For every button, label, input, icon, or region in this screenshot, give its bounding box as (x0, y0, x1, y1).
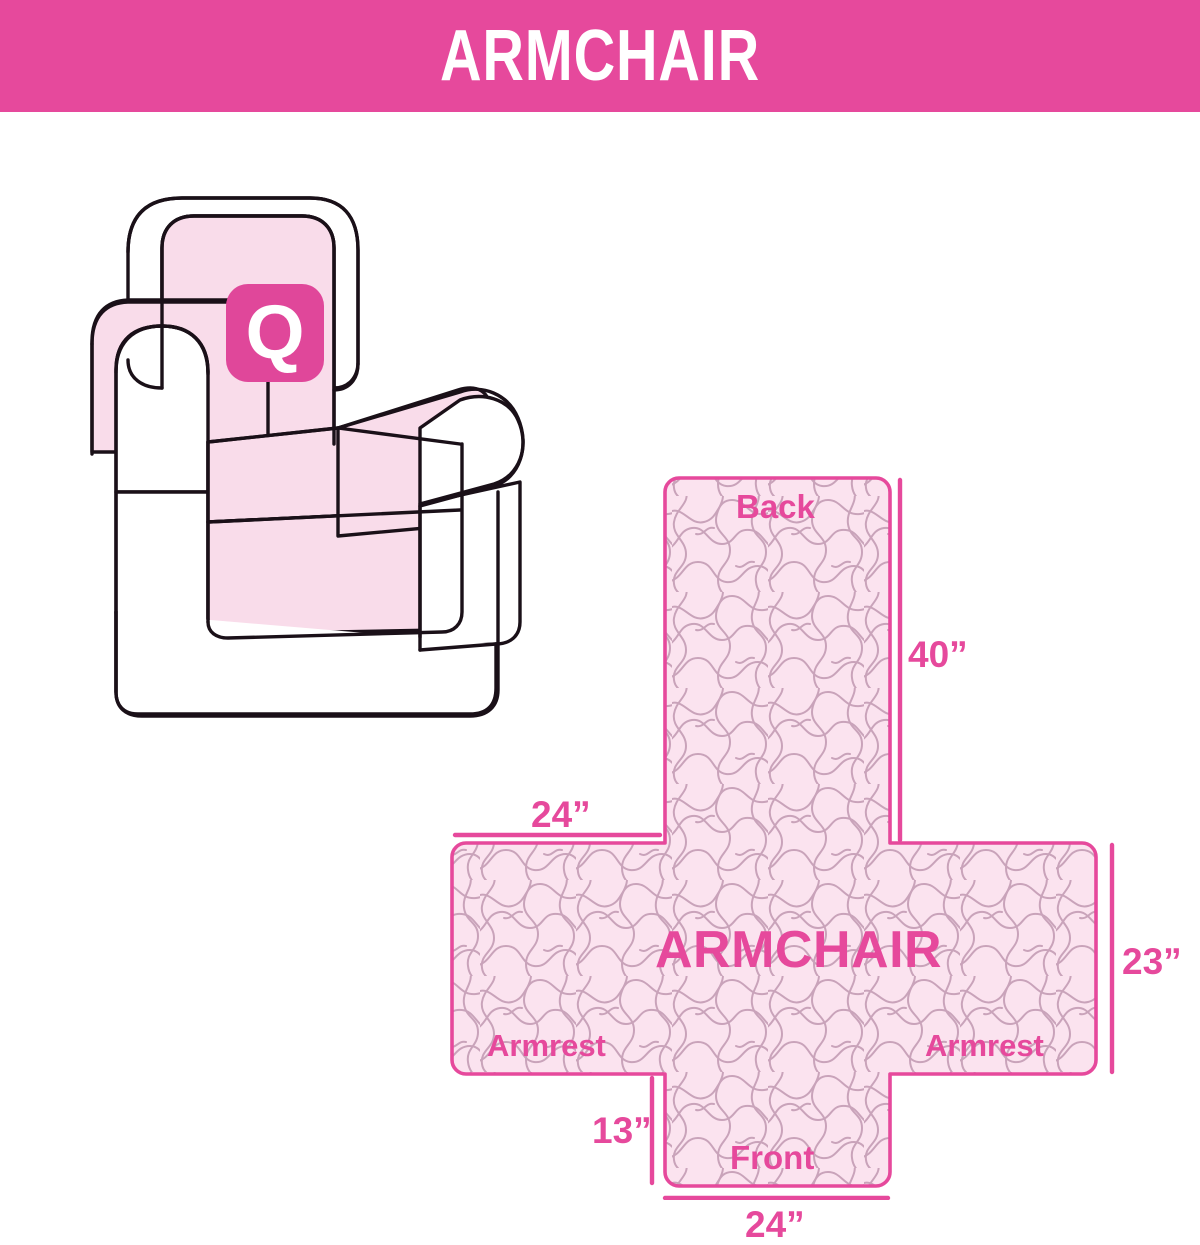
panel-label-armrest-left: Armrest (487, 1030, 606, 1061)
diagram-canvas: Q (0, 112, 1200, 1200)
panel-label-back: Back (736, 490, 815, 523)
dimension-label-back-height: 40” (908, 636, 968, 673)
header-banner: ARMCHAIR (0, 0, 1200, 112)
dimension-label-seat-depth: 23” (1122, 943, 1182, 980)
page-title: ARMCHAIR (440, 20, 760, 92)
panel-label-armrest-right: Armrest (925, 1030, 1044, 1061)
panel-label-front: Front (730, 1141, 814, 1174)
dimension-label-front-width: 24” (745, 1206, 805, 1243)
cover-center-label: ARMCHAIR (655, 924, 942, 976)
dimension-label-front-drop: 13” (592, 1112, 652, 1149)
dimension-label-armrest-width: 24” (531, 796, 591, 833)
